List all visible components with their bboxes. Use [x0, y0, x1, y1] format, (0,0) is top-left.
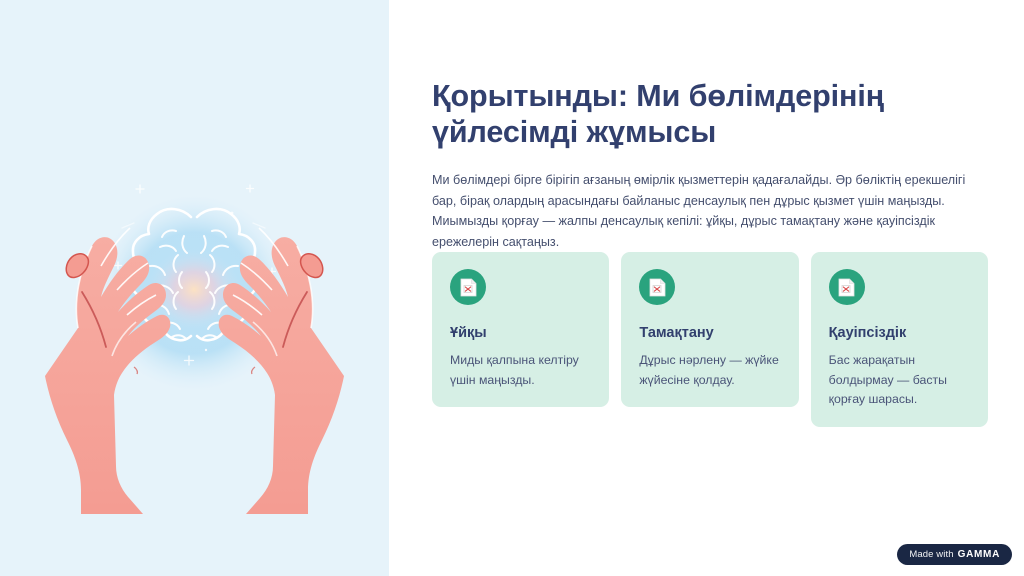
card-body: Миды қалпына келтіру үшін маңызды. [450, 351, 592, 390]
badge-made-with-label: Made with [909, 549, 953, 560]
hands-holding-glowing-brain-illustration [0, 0, 389, 576]
card-safety[interactable]: Қауіпсіздік Бас жарақатын болдырмау — ба… [811, 252, 988, 427]
made-with-gamma-badge[interactable]: Made with GAMMA [897, 544, 1012, 565]
card-body: Дұрыс нәрлену — жүйке жүйесіне қолдау. [639, 351, 781, 390]
card-sleep[interactable]: Ұйқы Миды қалпына келтіру үшін маңызды. [432, 252, 609, 407]
badge-brand-label: GAMMA [958, 549, 1000, 560]
card-title: Ұйқы [450, 325, 592, 342]
card-icon-circle [639, 269, 675, 305]
illustration-svg [0, 0, 389, 576]
content-area: Қорытынды: Ми бөлімдерінің үйлесімді жұм… [389, 0, 1024, 576]
illustration-panel [0, 0, 389, 576]
page-paragraph: Ми бөлімдері бірге бірігіп ағзаның өмірл… [432, 170, 984, 252]
card-title: Тамақтану [639, 325, 781, 342]
heading-and-paragraph-block: Қорытынды: Ми бөлімдерінің үйлесімді жұм… [432, 78, 988, 252]
page-title: Қорытынды: Ми бөлімдерінің үйлесімді жұм… [432, 78, 932, 150]
broken-image-icon [649, 278, 666, 297]
card-nutrition[interactable]: Тамақтану Дұрыс нәрлену — жүйке жүйесіне… [621, 252, 798, 407]
broken-image-icon [460, 278, 477, 297]
card-icon-circle [829, 269, 865, 305]
card-title: Қауіпсіздік [829, 325, 971, 342]
cards-row: Ұйқы Миды қалпына келтіру үшін маңызды. … [432, 252, 988, 427]
broken-image-icon [838, 278, 855, 297]
card-body: Бас жарақатын болдырмау — басты қорғау ш… [829, 351, 971, 410]
card-icon-circle [450, 269, 486, 305]
slide-root: Қорытынды: Ми бөлімдерінің үйлесімді жұм… [0, 0, 1024, 576]
